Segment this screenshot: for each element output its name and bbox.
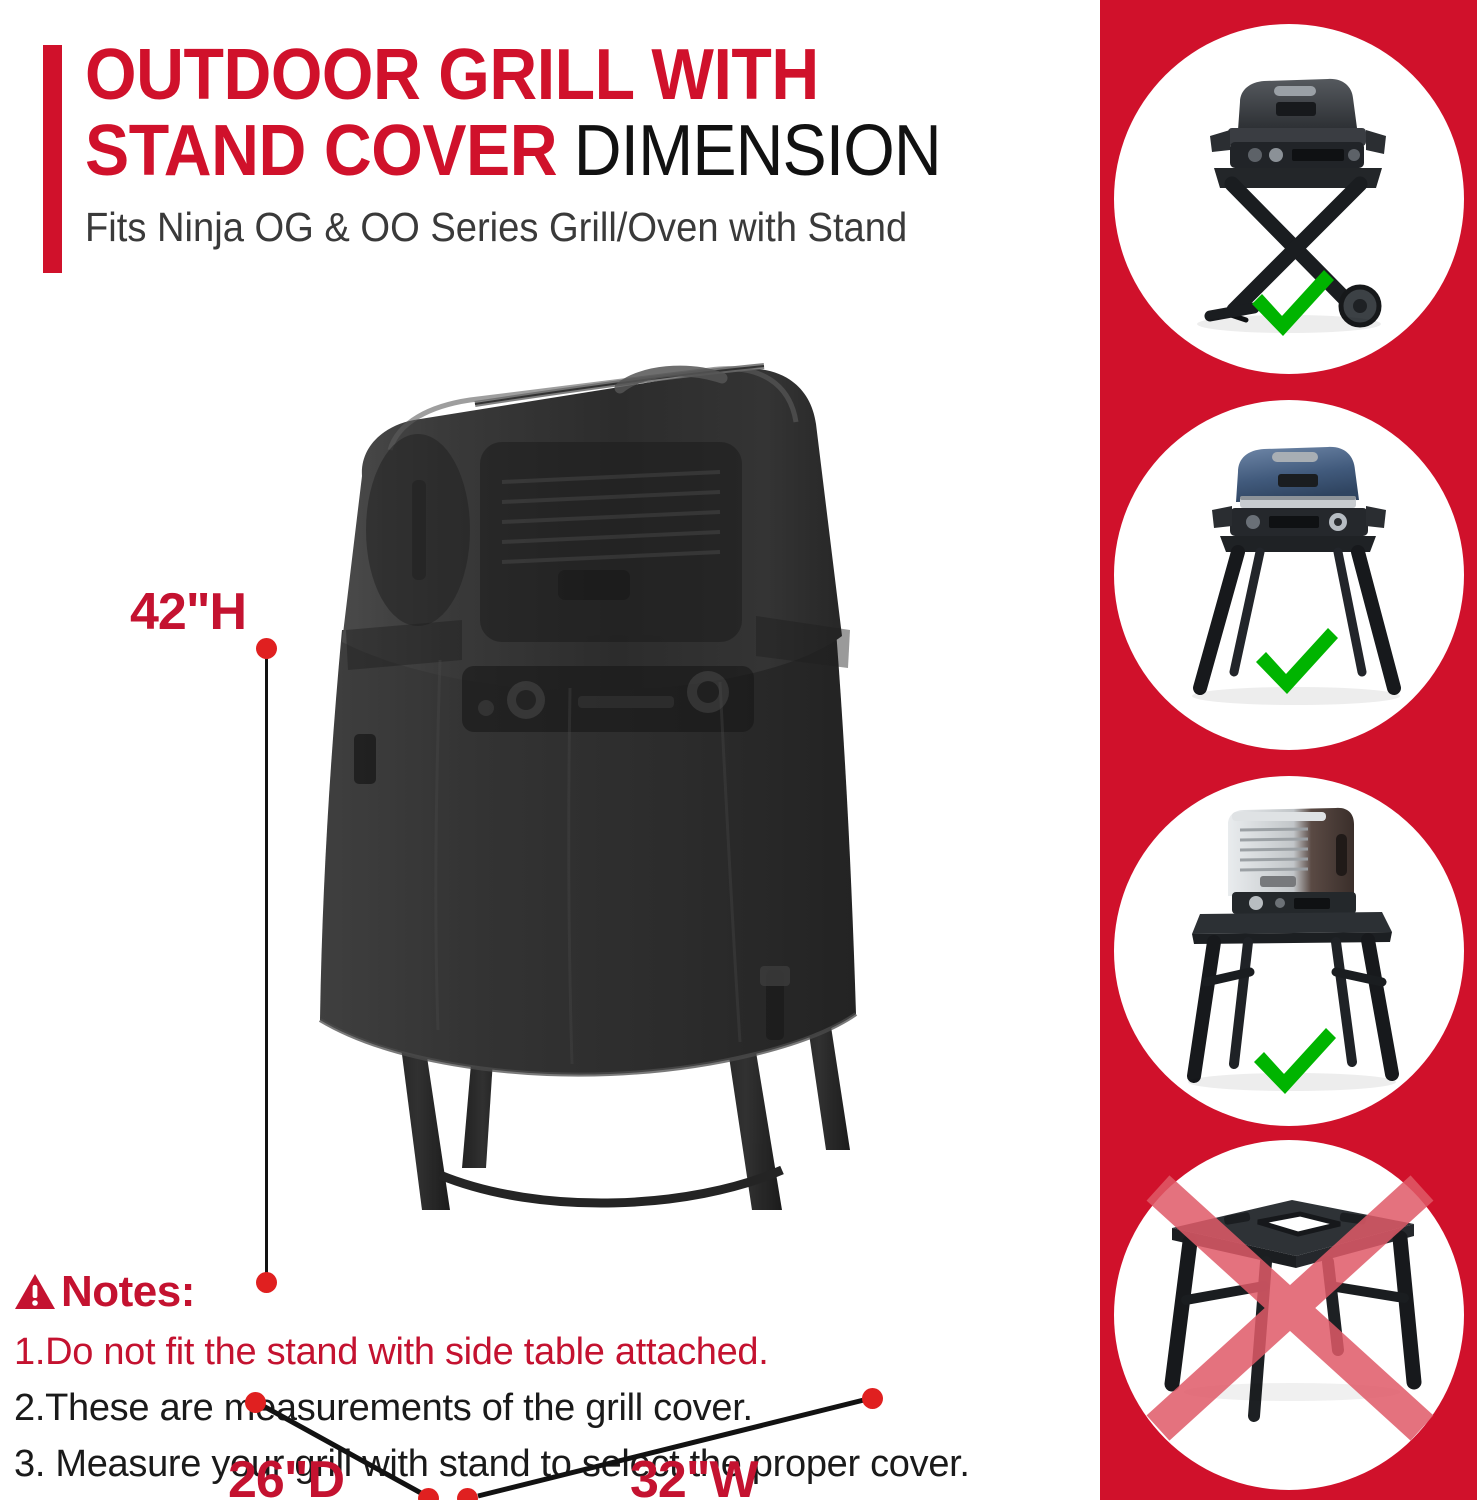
width-dimension-label: 32"W	[630, 1450, 758, 1500]
cross-mark-icon	[1136, 1168, 1442, 1464]
check-mark-icon	[1248, 1022, 1340, 1100]
header-block: OUTDOOR GRILL WITH STAND COVERDIMENSION …	[43, 45, 1083, 273]
grill-showing-through	[366, 434, 742, 642]
header-accent-bar	[43, 45, 62, 273]
depth-dimension-dot-outer	[245, 1392, 266, 1413]
control-panel-showing-through	[462, 666, 754, 732]
note-item-1: 1.Do not fit the stand with side table a…	[14, 1324, 1094, 1380]
height-dimension-label: 42"H	[130, 582, 246, 642]
infographic-page: OUTDOOR GRILL WITH STAND COVERDIMENSION …	[0, 0, 1477, 1500]
compatibility-sidebar	[1100, 0, 1477, 1500]
page-title-line-2: STAND COVERDIMENSION	[85, 113, 1005, 189]
page-title-line-2-black: DIMENSION	[574, 111, 941, 191]
notes-header: Notes:	[14, 1268, 1094, 1316]
notes-title: Notes:	[61, 1268, 195, 1316]
depth-dimension-label: 26"D	[228, 1450, 344, 1500]
page-subtitle: Fits Ninja OG & OO Series Grill/Oven wit…	[85, 203, 1015, 251]
check-mark-icon	[1250, 622, 1342, 700]
grill-cover-illustration	[290, 330, 890, 1210]
compatibility-panel-outdoor-oven-on-table-stand	[1114, 776, 1464, 1126]
compatibility-panel-empty-stand-with-side-table	[1114, 1140, 1464, 1490]
title-stack: OUTDOOR GRILL WITH STAND COVERDIMENSION …	[85, 37, 1085, 251]
product-illustration-zone: 42"H 26"D 32"W	[0, 300, 1100, 1260]
compatibility-panel-blue-lid-grill-on-splayed-stand	[1114, 400, 1464, 750]
height-dimension-dot-bottom	[256, 1272, 277, 1293]
compatibility-panel-grill-on-x-scissor-stand	[1114, 24, 1464, 374]
page-title-line-2-red: STAND COVER	[85, 111, 557, 191]
height-dimension-line	[265, 648, 268, 1286]
width-dimension-dot-outer	[862, 1388, 883, 1409]
height-dimension-dot-top	[256, 638, 277, 659]
left-content-panel: OUTDOOR GRILL WITH STAND COVERDIMENSION …	[0, 0, 1100, 1500]
check-mark-icon	[1246, 264, 1338, 342]
page-title-line-1: OUTDOOR GRILL WITH	[85, 37, 1005, 113]
warning-triangle-icon	[14, 1272, 56, 1312]
